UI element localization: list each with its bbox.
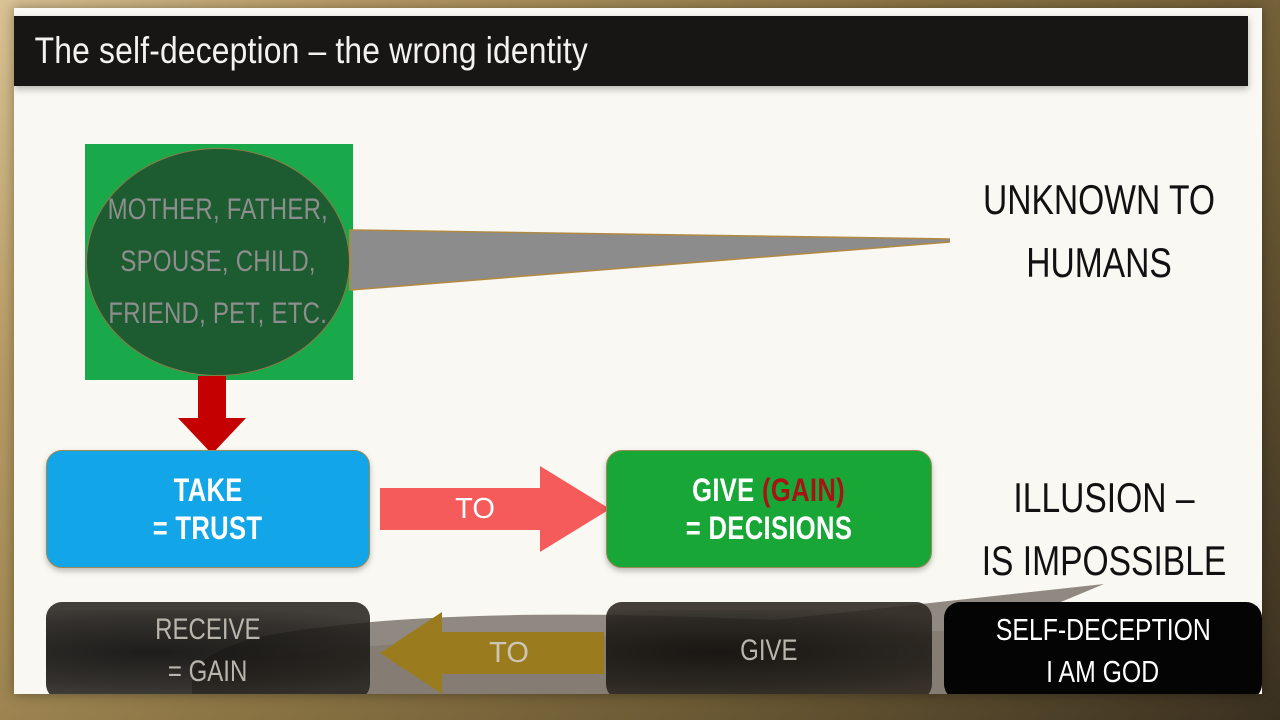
take-box-line-2: = TRUST xyxy=(153,509,263,547)
unknown-to-humans-text: UNKNOWN TO HUMANS xyxy=(944,168,1254,294)
unknown-line-1: UNKNOWN TO xyxy=(975,168,1223,231)
gray-wedge-pointer xyxy=(344,220,950,298)
give-decisions-box[interactable]: GIVE (GAIN) = DECISIONS xyxy=(606,450,932,568)
self-deception-line-2: I AM GOD xyxy=(1047,651,1160,693)
self-deception-box[interactable]: SELF-DECEPTION I AM GOD xyxy=(944,602,1262,694)
self-deception-line-1: SELF-DECEPTION xyxy=(996,609,1211,651)
give-bottom-box-line-1: GIVE xyxy=(740,630,797,672)
slide-title-bar: The self-deception – the wrong identity xyxy=(14,16,1248,86)
identity-label-line-2: SPOUSE, CHILD, xyxy=(120,236,315,288)
receive-gain-box[interactable]: RECEIVE = GAIN xyxy=(46,602,370,694)
arrow-take-to-give: TO xyxy=(380,464,610,554)
slide-page: The self-deception – the wrong identity … xyxy=(14,8,1262,694)
identity-source-circle: MOTHER, FATHER, SPOUSE, CHILD, FRIEND, P… xyxy=(86,148,350,376)
illusion-line-1: ILLUSION – xyxy=(976,466,1232,529)
page-title: The self-deception – the wrong identity xyxy=(14,30,588,72)
receive-box-line-2: = GAIN xyxy=(168,651,247,693)
take-box-line-1: TAKE xyxy=(173,471,242,509)
give-box-give-word: GIVE xyxy=(693,472,763,508)
receive-box-line-1: RECEIVE xyxy=(155,609,260,651)
illusion-line-2: IS IMPOSSIBLE xyxy=(976,529,1232,592)
arrow-take-to-give-label: TO xyxy=(380,464,570,554)
arrow-give-to-receive-label: TO xyxy=(414,612,604,694)
identity-label-line-3: FRIEND, PET, ETC. xyxy=(109,288,328,340)
give-box-line-2: = DECISIONS xyxy=(686,509,852,547)
slide-frame: The self-deception – the wrong identity … xyxy=(0,0,1280,720)
give-bottom-box[interactable]: GIVE xyxy=(606,602,932,694)
give-box-gain-word: (GAIN) xyxy=(762,472,845,508)
give-box-line-1: GIVE (GAIN) xyxy=(693,471,846,509)
identity-label-line-1: MOTHER, FATHER, xyxy=(108,184,329,236)
down-arrow-icon xyxy=(172,376,252,454)
illusion-impossible-text: ILLUSION – IS IMPOSSIBLE xyxy=(944,466,1262,592)
arrow-give-to-receive: TO xyxy=(380,612,604,694)
take-trust-box[interactable]: TAKE = TRUST xyxy=(46,450,370,568)
unknown-line-2: HUMANS xyxy=(975,231,1223,294)
